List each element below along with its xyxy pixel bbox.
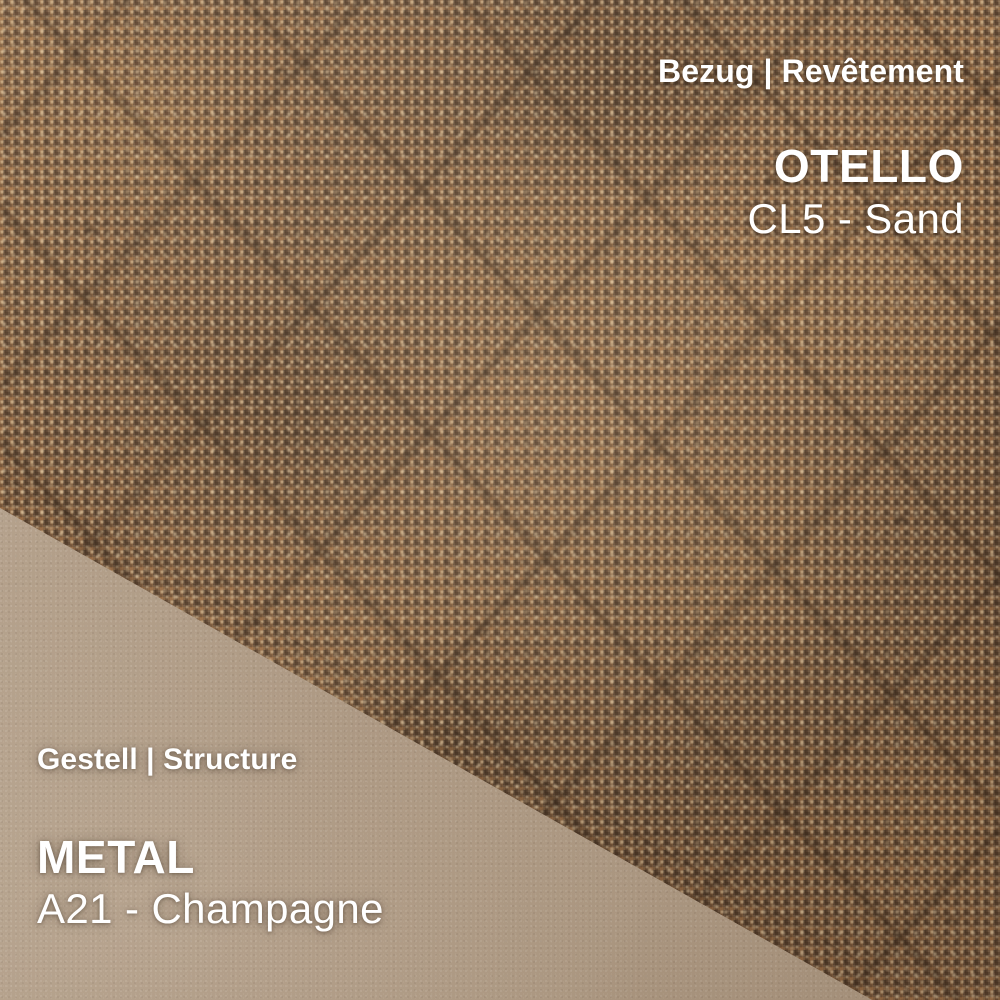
upholstery-label-block: Bezug | Revêtement OTELLO CL5 - Sand [658, 54, 964, 242]
frame-material-name: METAL [37, 833, 384, 883]
upholstery-color-label: CL5 - Sand [658, 196, 964, 242]
frame-label-block: Gestell | Structure METAL A21 - Champagn… [37, 743, 384, 932]
material-swatch-card: Bezug | Revêtement OTELLO CL5 - Sand Ges… [0, 0, 1000, 1000]
frame-color-label: A21 - Champagne [37, 886, 384, 932]
upholstery-category-label: Bezug | Revêtement [658, 54, 964, 90]
frame-category-label: Gestell | Structure [37, 743, 384, 777]
upholstery-material-name: OTELLO [658, 142, 964, 192]
